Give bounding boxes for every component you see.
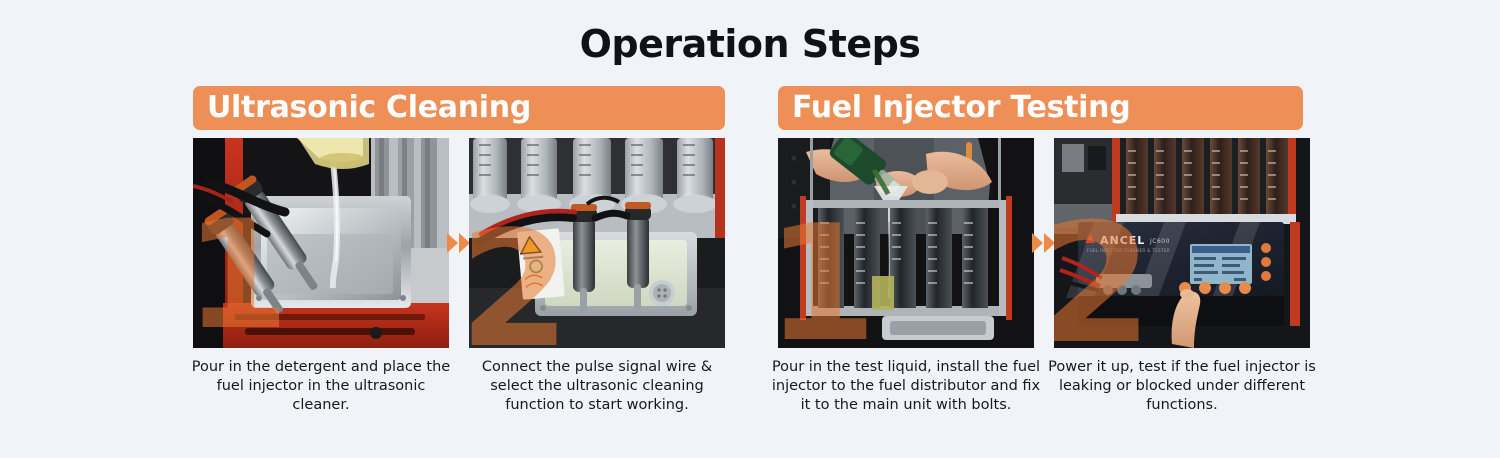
step-caption: Pour in the detergent and place the fuel… — [186, 358, 456, 415]
photo-test-liquid-illustration — [778, 138, 1034, 348]
operation-steps-page: Operation Steps Ultrasonic Cleaning — [0, 0, 1500, 458]
step-photo-test-liquid-pour: 1 — [778, 138, 1034, 348]
step-card: 1 Pour in the test liquid, install the f… — [778, 138, 1034, 415]
section-banner-label: Fuel Injector Testing — [792, 93, 1130, 123]
section-banner-ultrasonic-cleaning: Ultrasonic Cleaning — [193, 86, 725, 130]
step-card: 2 Connect the pulse signal wire & select… — [469, 138, 725, 415]
section-banner-fuel-injector-testing: Fuel Injector Testing — [778, 86, 1303, 130]
photo-ultrasonic-signal-illustration — [469, 138, 725, 348]
step-card: 1 Pour in the detergent and place the fu… — [193, 138, 449, 415]
step-connector — [1034, 138, 1054, 348]
photo-ancel-jc600-panel-illustration: ANCEL JC600 FUEL INJECTOR CLEANER & TEST… — [1054, 138, 1310, 348]
svg-text:FUEL INJECTOR CLEANER & TESTER: FUEL INJECTOR CLEANER & TESTER — [1087, 248, 1170, 253]
step-photo-pulse-signal-wire: 2 — [469, 138, 725, 348]
step-caption: Pour in the test liquid, install the fue… — [771, 358, 1041, 415]
step-card: ANCEL JC600 FUEL INJECTOR CLEANER & TEST… — [1054, 138, 1310, 415]
steps-row-fuel-injector-testing: 1 Pour in the test liquid, install the f… — [778, 138, 1310, 415]
section-ultrasonic-cleaning: Ultrasonic Cleaning — [193, 86, 725, 130]
step-caption: Connect the pulse signal wire & select t… — [462, 358, 732, 415]
page-title: Operation Steps — [0, 22, 1500, 66]
section-banner-label: Ultrasonic Cleaning — [207, 93, 531, 123]
svg-text:ANCEL: ANCEL — [1100, 234, 1145, 247]
svg-text:JC600: JC600 — [1149, 238, 1170, 245]
step-photo-control-panel: ANCEL JC600 FUEL INJECTOR CLEANER & TEST… — [1054, 138, 1310, 348]
step-caption: Power it up, test if the fuel injector i… — [1047, 358, 1317, 415]
step-photo-detergent-pour: 1 — [193, 138, 449, 348]
step-connector — [449, 138, 469, 348]
photo-ultrasonic-pour-illustration — [193, 138, 449, 348]
steps-row-ultrasonic-cleaning: 1 Pour in the detergent and place the fu… — [193, 138, 725, 415]
section-fuel-injector-testing: Fuel Injector Testing — [778, 86, 1303, 130]
